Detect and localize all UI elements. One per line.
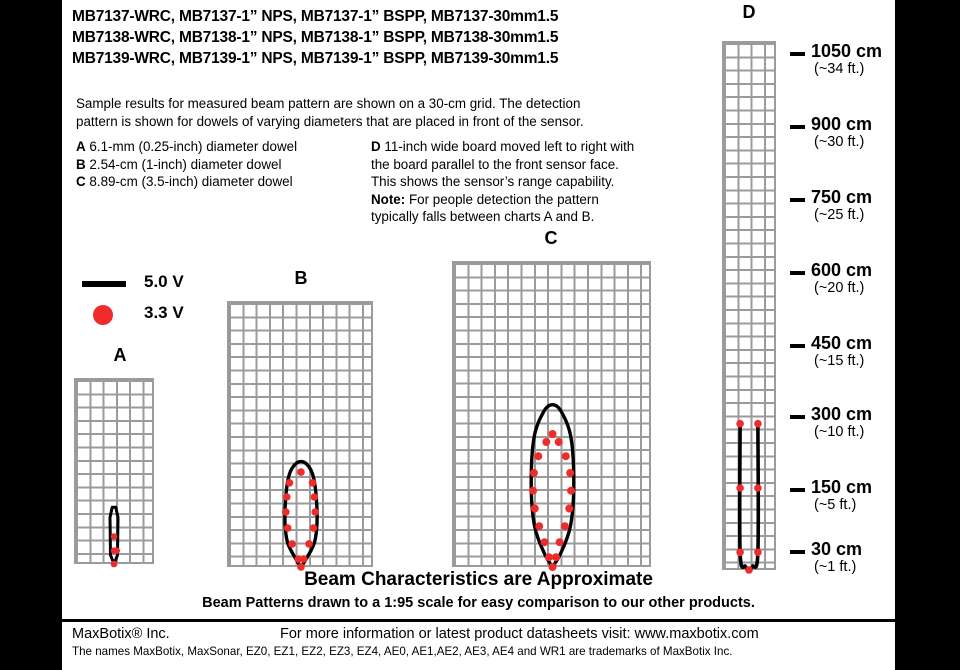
detection-point	[545, 553, 553, 561]
definition-key-d: D	[371, 139, 381, 154]
tick-label-cm: 900 cm	[811, 114, 872, 135]
detection-point	[754, 420, 762, 428]
definition-item-d-cont-2: This shows the sensor’s range capability…	[371, 173, 731, 191]
datasheet-page: MB7137-WRC, MB7137-1” NPS, MB7137-1” BSP…	[0, 0, 960, 670]
detection-point	[534, 452, 542, 460]
detection-point	[556, 538, 564, 546]
detection-point	[561, 522, 569, 530]
detection-point	[541, 538, 549, 546]
detection-point	[542, 438, 550, 446]
detection-point	[529, 487, 537, 495]
detection-point	[530, 469, 538, 477]
chart-c-beam-pattern	[452, 228, 682, 588]
tick-label-cm: 150 cm	[811, 477, 872, 498]
tick-label-cm: 750 cm	[811, 187, 872, 208]
definition-text-b: 2.54-cm (1-inch) diameter dowel	[89, 157, 281, 172]
detection-point	[288, 540, 296, 548]
definition-item-a: A 6.1-mm (0.25-inch) diameter dowel	[76, 138, 371, 156]
description-line-2: pattern is shown for dowels of varying d…	[76, 113, 716, 131]
black-bar-icon	[82, 281, 126, 287]
detection-point	[562, 452, 570, 460]
detection-point	[311, 493, 319, 501]
tick-dash-icon	[790, 271, 805, 275]
tick-dash-icon	[790, 488, 805, 492]
definition-item-c: C 8.89-cm (3.5-inch) diameter dowel	[76, 173, 371, 191]
definition-text-c: 8.89-cm (3.5-inch) diameter dowel	[89, 174, 292, 189]
detection-point	[535, 522, 543, 530]
sheet-canvas: MB7137-WRC, MB7137-1” NPS, MB7137-1” BSP…	[62, 0, 895, 670]
note-line-2: typically falls between charts A and B.	[371, 208, 731, 226]
legend-label-3v3: 3.3 V	[144, 303, 184, 323]
detection-point	[566, 469, 574, 477]
tick-label-feet: (~25 ft.)	[814, 207, 864, 223]
chart-b-beam-pattern	[227, 268, 407, 588]
note-text-2: typically falls between charts A and B.	[371, 209, 594, 224]
definition-text-d-cont-1: the board parallel to the front sensor f…	[371, 157, 619, 172]
definition-item-d: D 11-inch wide board moved left to right…	[371, 138, 731, 156]
product-title-line-3: MB7139-WRC, MB7139-1” NPS, MB7139-1” BSP…	[72, 48, 772, 69]
detection-point	[567, 487, 575, 495]
detection-point	[297, 468, 305, 476]
chart-d-beam-pattern	[722, 2, 792, 582]
tick-label-cm: 30 cm	[811, 539, 862, 560]
tick-dash-icon	[790, 52, 805, 56]
tick-label-feet: (~30 ft.)	[814, 134, 864, 150]
detection-point	[549, 430, 557, 438]
detection-point	[283, 493, 291, 501]
tick-label-feet: (~5 ft.)	[814, 497, 856, 513]
footer-divider	[62, 619, 895, 622]
note-line-1: Note: For people detection the pattern	[371, 191, 731, 209]
definition-text-d-cont-2: This shows the sensor’s range capability…	[371, 174, 614, 189]
tick-label-cm: 300 cm	[811, 404, 872, 425]
definitions-left-column: A 6.1-mm (0.25-inch) diameter dowel B 2.…	[76, 138, 371, 191]
detection-point	[282, 508, 290, 516]
tick-dash-icon	[790, 125, 805, 129]
note-key: Note:	[371, 192, 405, 207]
footer-info: For more information or latest product d…	[280, 626, 759, 642]
tick-dash-icon	[790, 415, 805, 419]
detection-point	[736, 549, 744, 557]
distance-scale-axis: 1050 cm(~34 ft.)900 cm(~30 ft.)750 cm(~2…	[790, 0, 895, 600]
detection-point	[552, 553, 560, 561]
definition-item-d-cont-1: the board parallel to the front sensor f…	[371, 156, 731, 174]
product-title-block: MB7137-WRC, MB7137-1” NPS, MB7137-1” BSP…	[72, 6, 772, 69]
definition-text-a: 6.1-mm (0.25-inch) diameter dowel	[89, 139, 297, 154]
product-title-line-1: MB7137-WRC, MB7137-1” NPS, MB7137-1” BSP…	[72, 6, 772, 27]
footer-company: MaxBotix® Inc.	[72, 626, 170, 642]
tick-label-cm: 600 cm	[811, 260, 872, 281]
red-dot-icon	[93, 305, 113, 325]
detection-point	[555, 438, 563, 446]
detection-point	[300, 555, 308, 563]
tick-dash-icon	[790, 198, 805, 202]
detection-point	[309, 479, 317, 487]
caption-scale-note: Beam Patterns drawn to a 1:95 scale for …	[62, 595, 895, 611]
tick-label-feet: (~15 ft.)	[814, 353, 864, 369]
tick-label-cm: 1050 cm	[811, 41, 882, 62]
definitions-right-column: D 11-inch wide board moved left to right…	[371, 138, 731, 226]
beam-outline	[740, 424, 759, 570]
legend-label-5v: 5.0 V	[144, 272, 184, 292]
definition-key-c: C	[76, 174, 86, 189]
description-block: Sample results for measured beam pattern…	[76, 95, 716, 130]
detection-point	[736, 420, 744, 428]
tick-dash-icon	[790, 344, 805, 348]
detection-point	[754, 484, 762, 492]
product-title-line-2: MB7138-WRC, MB7138-1” NPS, MB7138-1” BSP…	[72, 27, 772, 48]
detection-point	[565, 505, 573, 513]
note-text-1: For people detection the pattern	[409, 192, 599, 207]
definition-key-b: B	[76, 157, 86, 172]
detection-point	[111, 561, 118, 568]
tick-label-feet: (~20 ft.)	[814, 280, 864, 296]
chart-a-beam-pattern	[74, 345, 194, 585]
definition-key-a: A	[76, 139, 86, 154]
definition-item-b: B 2.54-cm (1-inch) diameter dowel	[76, 156, 371, 174]
tick-dash-icon	[790, 550, 805, 554]
tick-label-cm: 450 cm	[811, 333, 872, 354]
detection-point	[113, 547, 120, 554]
footer-trademarks: The names MaxBotix, MaxSonar, EZ0, EZ1, …	[72, 645, 733, 658]
detection-point	[286, 479, 294, 487]
detection-point	[305, 540, 313, 548]
caption-approximate: Beam Characteristics are Approximate	[62, 569, 895, 591]
detection-point	[531, 505, 539, 513]
detection-point	[310, 524, 318, 532]
detection-point	[111, 533, 118, 540]
tick-label-feet: (~34 ft.)	[814, 61, 864, 77]
detection-point	[754, 549, 762, 557]
detection-point	[311, 508, 319, 516]
tick-label-feet: (~10 ft.)	[814, 424, 864, 440]
description-line-1: Sample results for measured beam pattern…	[76, 95, 716, 113]
definition-text-d: 11-inch wide board moved left to right w…	[384, 139, 634, 154]
beam-outline	[531, 405, 574, 567]
detection-point	[736, 484, 744, 492]
detection-point	[284, 524, 292, 532]
